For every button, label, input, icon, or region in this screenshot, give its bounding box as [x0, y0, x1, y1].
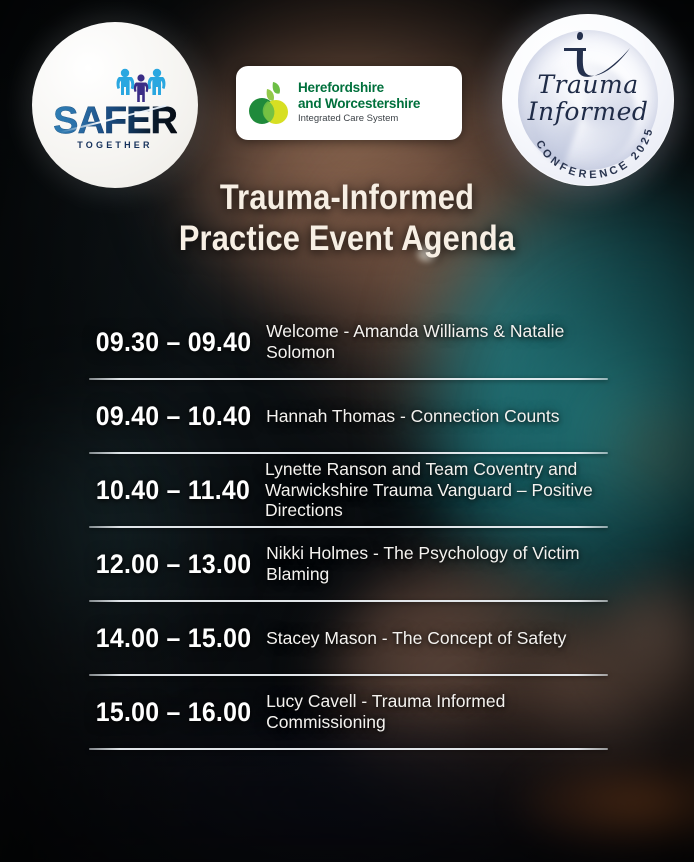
agenda-row-description: Lynette Ranson and Team Coventry and War… [257, 459, 608, 521]
page-title: Trauma-Informed Practice Event Agenda [42, 178, 653, 259]
page-title-line1: Trauma-Informed [220, 178, 474, 217]
badge-arc-label: CONFERENCE 2025 [533, 125, 656, 181]
ics-leaf-apple-icon [248, 80, 290, 126]
agenda-row-time: 12.00 – 13.00 [96, 551, 252, 578]
herefordshire-worcestershire-ics-logo: Herefordshire and Worcestershire Integra… [236, 66, 462, 140]
safer-together-logo: SAFER TOGETHER [32, 22, 198, 188]
people-icon [116, 64, 166, 104]
agenda-row-time: 09.30 – 09.40 [96, 329, 252, 356]
agenda-row-description: Hannah Thomas - Connection Counts [258, 406, 608, 427]
agenda-row: 12.00 – 13.00 Nikki Holmes - The Psychol… [89, 528, 608, 600]
agenda-row-time: 15.00 – 16.00 [96, 699, 252, 726]
agenda-row-time: 09.40 – 10.40 [96, 403, 252, 430]
ics-logo-line1a: Herefordshire [298, 80, 420, 95]
agenda-row: 14.00 – 15.00 Stacey Mason - The Concept… [89, 602, 608, 674]
agenda-row: 09.30 – 09.40 Welcome - Amanda Williams … [89, 306, 608, 378]
badge-arc-text: CONFERENCE 2025 [502, 14, 674, 186]
agenda-row-description: Nikki Holmes - The Psychology of Victim … [258, 543, 608, 584]
agenda-row-description: Welcome - Amanda Williams & Natalie Solo… [258, 321, 608, 362]
agenda-row: 09.40 – 10.40 Hannah Thomas - Connection… [89, 380, 608, 452]
agenda-divider [89, 748, 608, 750]
agenda-row-description: Stacey Mason - The Concept of Safety [258, 628, 608, 649]
safer-logo-subtitle: TOGETHER [77, 140, 152, 150]
agenda-poster: SAFER TOGETHER Herefordshire and Worcest… [0, 0, 694, 862]
agenda-row-description: Lucy Cavell - Trauma Informed Commission… [258, 691, 608, 732]
trauma-informed-conference-2025-badge: Trauma Informed CONFERENCE 2025 [502, 14, 674, 186]
agenda-row: 10.40 – 11.40 Lynette Ranson and Team Co… [89, 454, 608, 526]
agenda-row-time: 14.00 – 15.00 [96, 625, 252, 652]
agenda-row: 15.00 – 16.00 Lucy Cavell - Trauma Infor… [89, 676, 608, 748]
agenda-list: 09.30 – 09.40 Welcome - Amanda Williams … [89, 306, 608, 750]
ics-logo-line2: Integrated Care System [298, 113, 420, 126]
ics-logo-line1b: and Worcestershire [298, 96, 420, 111]
agenda-row-time: 10.40 – 11.40 [96, 477, 251, 504]
page-title-line2: Practice Event Agenda [42, 219, 653, 260]
